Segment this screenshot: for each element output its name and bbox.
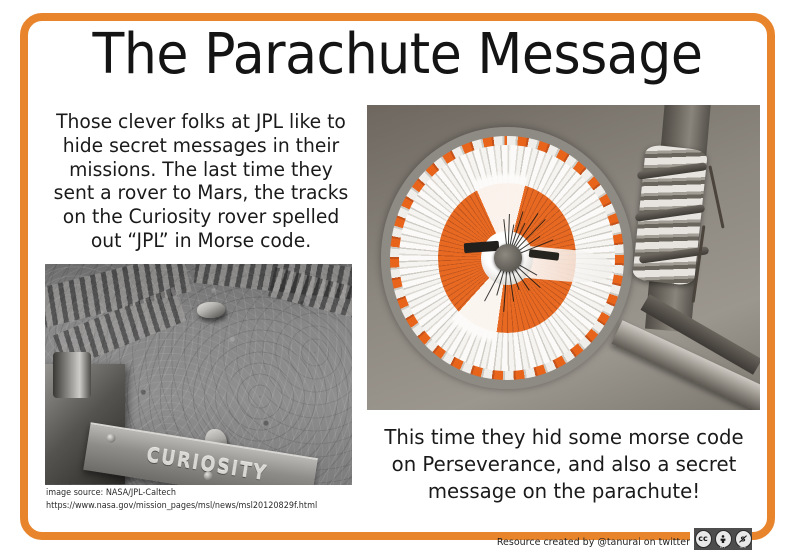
perseverance-parachute-photo	[367, 105, 760, 410]
cc-mark-group: cc	[695, 528, 712, 550]
closing-caption: This time they hid some morse code on Pe…	[374, 424, 754, 505]
parachute-hub	[494, 244, 522, 271]
parachute-canopy-group	[381, 115, 637, 403]
rover-bolt	[203, 471, 213, 481]
curiosity-rover-tracks-photo: CURIOSITY	[45, 264, 352, 485]
cc-circle-icon: cc	[695, 530, 712, 548]
cc-by-label: BY	[715, 545, 732, 550]
mars-rock	[197, 302, 225, 318]
poster-canvas: The Parachute Message Those clever folks…	[0, 0, 800, 554]
cc-nc-group: S NC	[735, 528, 752, 550]
attribution-text: Resource created by @tanurai on twitter	[443, 537, 690, 548]
creative-commons-badge[interactable]: cc BY S NC	[694, 528, 752, 550]
photo-credit-url: https://www.nasa.gov/mission_pages/msl/n…	[46, 500, 350, 513]
rover-bolt	[106, 433, 116, 443]
photo-credit-source: image source: NASA/JPL-Caltech	[46, 487, 350, 500]
photo-credit: image source: NASA/JPL-Caltech https://w…	[46, 487, 350, 513]
cc-by-group: BY	[715, 528, 732, 550]
intro-paragraph: Those clever folks at JPL like to hide s…	[46, 110, 355, 253]
rover-instrument-cylinder	[53, 352, 91, 398]
parachute-canopy	[399, 145, 615, 371]
page-title: The Parachute Message	[46, 26, 748, 85]
cc-nc-label: NC	[735, 545, 752, 550]
